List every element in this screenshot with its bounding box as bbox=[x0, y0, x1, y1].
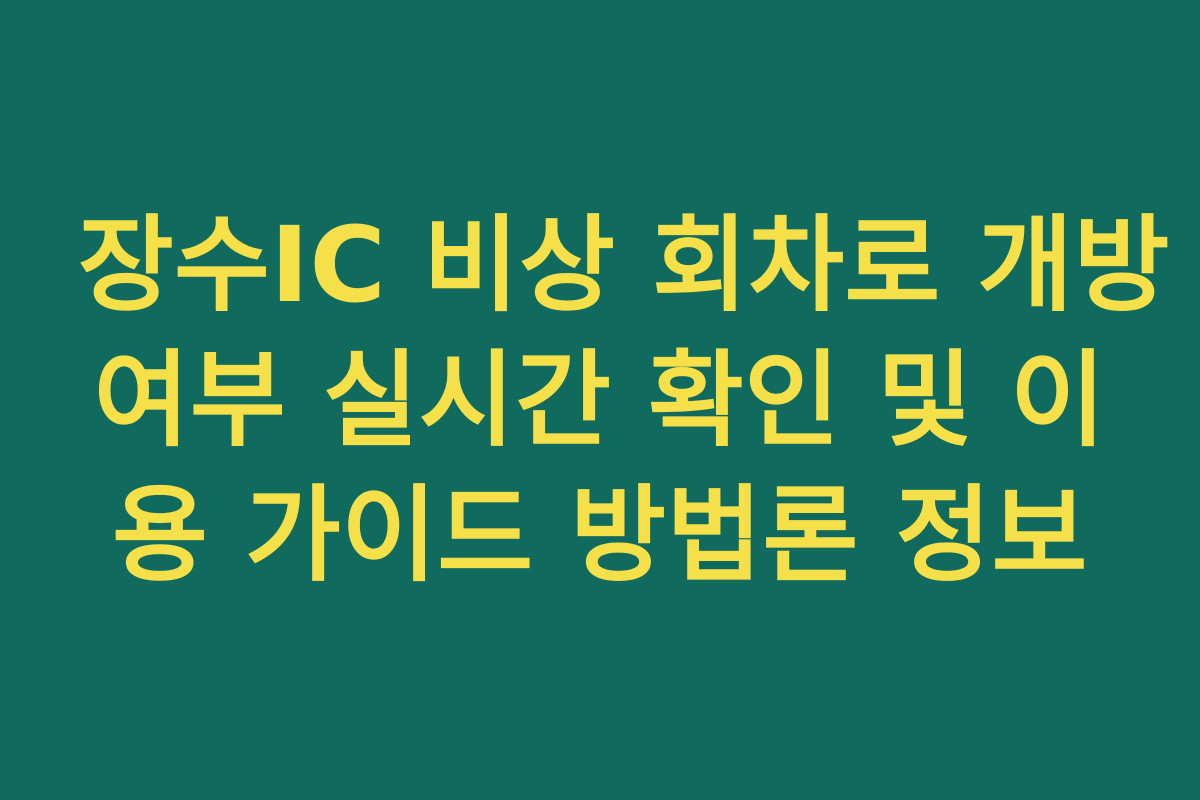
headline-line-2: 여부 실시간 확인 및 이 bbox=[78, 333, 1122, 468]
page-title: 장수IC 비상 회차로 개방 여부 실시간 확인 및 이 용 가이드 방법론 정… bbox=[78, 198, 1122, 603]
headline-line-3: 용 가이드 방법론 정보 bbox=[78, 468, 1122, 603]
headline-line-1: 장수IC 비상 회차로 개방 bbox=[78, 198, 1122, 333]
thumbnail-card: 장수IC 비상 회차로 개방 여부 실시간 확인 및 이 용 가이드 방법론 정… bbox=[0, 0, 1200, 800]
